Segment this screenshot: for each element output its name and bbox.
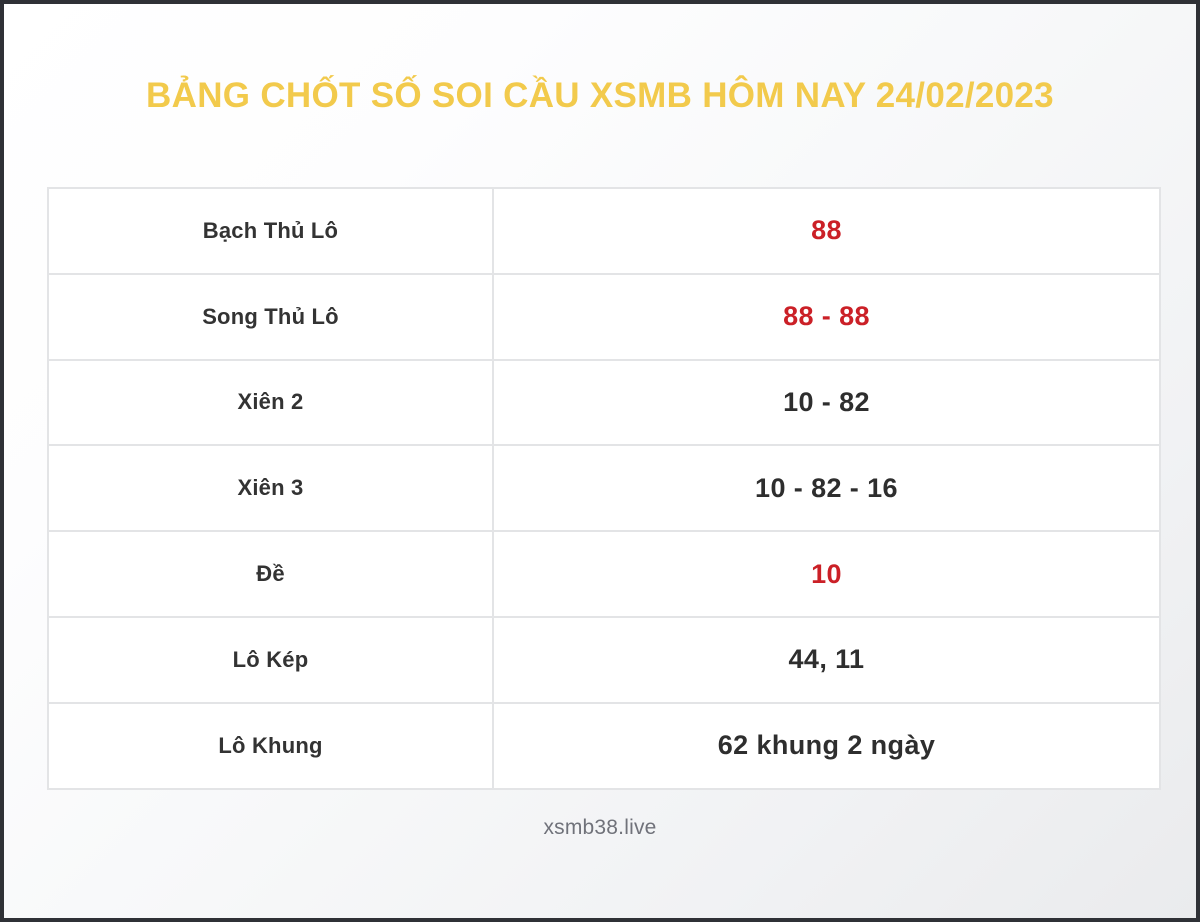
row-label-lo-kep: Lô Kép — [48, 617, 493, 703]
table-row: Xiên 2 10 - 82 — [48, 360, 1160, 446]
row-label-de: Đề — [48, 531, 493, 617]
row-value-song-thu-lo: 88 - 88 — [493, 274, 1160, 360]
page-surface: BẢNG CHỐT SỐ SOI CẦU XSMB HÔM NAY 24/02/… — [4, 4, 1196, 918]
row-value-lo-kep: 44, 11 — [493, 617, 1160, 703]
prediction-table-body: Bạch Thủ Lô 88 Song Thủ Lô 88 - 88 Xiên … — [48, 188, 1160, 789]
table-row: Đề 10 — [48, 531, 1160, 617]
row-value-xien-3: 10 - 82 - 16 — [493, 445, 1160, 531]
row-label-xien-3: Xiên 3 — [48, 445, 493, 531]
table-row: Song Thủ Lô 88 - 88 — [48, 274, 1160, 360]
page-title: BẢNG CHỐT SỐ SOI CẦU XSMB HÔM NAY 24/02/… — [146, 76, 1054, 116]
row-value-lo-khung: 62 khung 2 ngày — [493, 703, 1160, 789]
page-title-container: BẢNG CHỐT SỐ SOI CẦU XSMB HÔM NAY 24/02/… — [4, 4, 1196, 187]
row-value-bach-thu-lo: 88 — [493, 188, 1160, 274]
row-value-xien-2: 10 - 82 — [493, 360, 1160, 446]
row-label-lo-khung: Lô Khung — [48, 703, 493, 789]
site-watermark: xsmb38.live — [543, 816, 656, 840]
row-label-xien-2: Xiên 2 — [48, 360, 493, 446]
table-row: Lô Khung 62 khung 2 ngày — [48, 703, 1160, 789]
footer: xsmb38.live — [4, 816, 1196, 840]
image-frame: BẢNG CHỐT SỐ SOI CẦU XSMB HÔM NAY 24/02/… — [0, 0, 1200, 922]
table-row: Xiên 3 10 - 82 - 16 — [48, 445, 1160, 531]
row-label-song-thu-lo: Song Thủ Lô — [48, 274, 493, 360]
prediction-table: Bạch Thủ Lô 88 Song Thủ Lô 88 - 88 Xiên … — [47, 187, 1161, 790]
row-value-de: 10 — [493, 531, 1160, 617]
row-label-bach-thu-lo: Bạch Thủ Lô — [48, 188, 493, 274]
table-row: Bạch Thủ Lô 88 — [48, 188, 1160, 274]
table-row: Lô Kép 44, 11 — [48, 617, 1160, 703]
